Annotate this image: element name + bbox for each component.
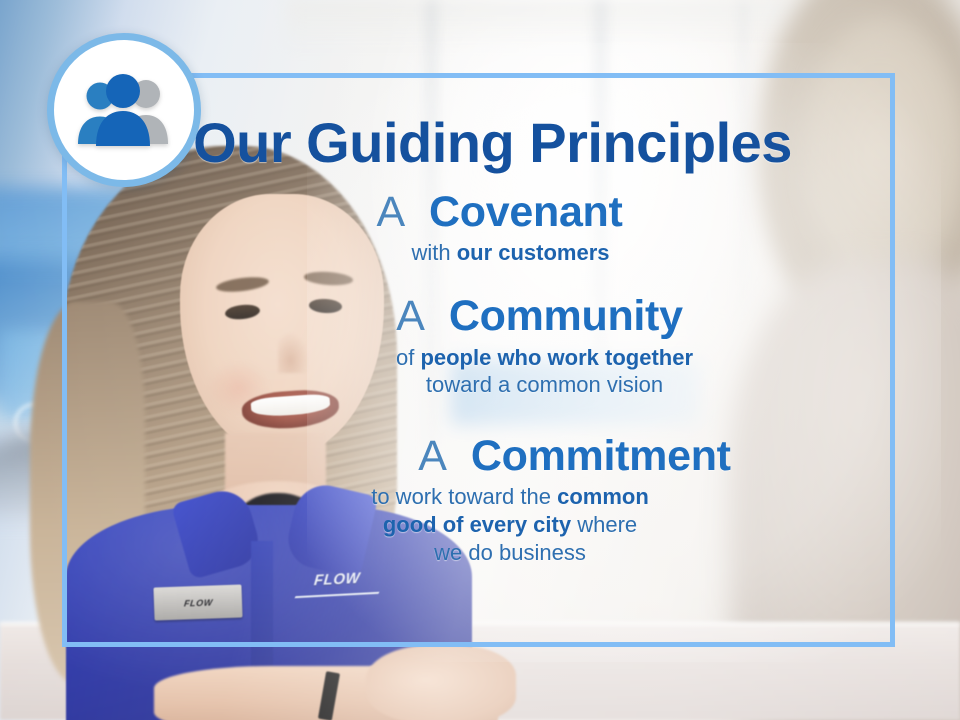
subtext-line: good of every city where — [310, 511, 710, 539]
principle-covenant-word: Covenant — [429, 188, 623, 236]
subtext-line: we do business — [310, 539, 710, 567]
banner-graphic: FLOW FLOW — [0, 0, 960, 720]
principle-commitment-heading: A Commitment — [284, 433, 865, 479]
principles-content: Our Guiding Principles A Covenant with o… — [62, 73, 895, 647]
principle-commitment: A Commitment to work toward the common g… — [284, 433, 865, 567]
subtext-emphasis: good of every city — [383, 512, 571, 537]
subtext-plain: to work toward the — [371, 484, 557, 509]
principle-community-heading: A Community — [214, 293, 865, 339]
principle-covenant-article: A — [376, 188, 417, 236]
principle-community-subtext: of people who work together toward a com… — [224, 344, 865, 399]
subtext-emphasis: our customers — [457, 240, 610, 265]
principle-covenant: A Covenant with our customers — [134, 189, 865, 267]
subtext-plain: of — [396, 345, 420, 370]
subtext-line: with our customers — [156, 239, 865, 267]
principle-community-word: Community — [449, 292, 683, 340]
principle-community-article: A — [396, 292, 437, 340]
subtext-line: to work toward the common — [310, 483, 710, 511]
subtext-emphasis: people who work together — [420, 345, 693, 370]
principle-covenant-heading: A Covenant — [134, 189, 865, 235]
subtext-plain: we do business — [434, 540, 586, 565]
subtext-plain: where — [571, 512, 637, 537]
principle-covenant-subtext: with our customers — [156, 239, 865, 267]
page-title: Our Guiding Principles — [120, 115, 865, 171]
principle-commitment-subtext: to work toward the common good of every … — [310, 483, 710, 566]
subtext-plain: toward a common vision — [426, 372, 663, 397]
subtext-line: of people who work together — [224, 344, 865, 372]
principle-commitment-article: A — [418, 432, 459, 480]
principle-community: A Community of people who work together … — [214, 293, 865, 399]
subtext-emphasis: common — [557, 484, 649, 509]
subtext-line: toward a common vision — [224, 371, 865, 399]
principle-commitment-word: Commitment — [471, 432, 731, 480]
employee-hands — [366, 645, 516, 720]
subtext-plain: with — [411, 240, 456, 265]
